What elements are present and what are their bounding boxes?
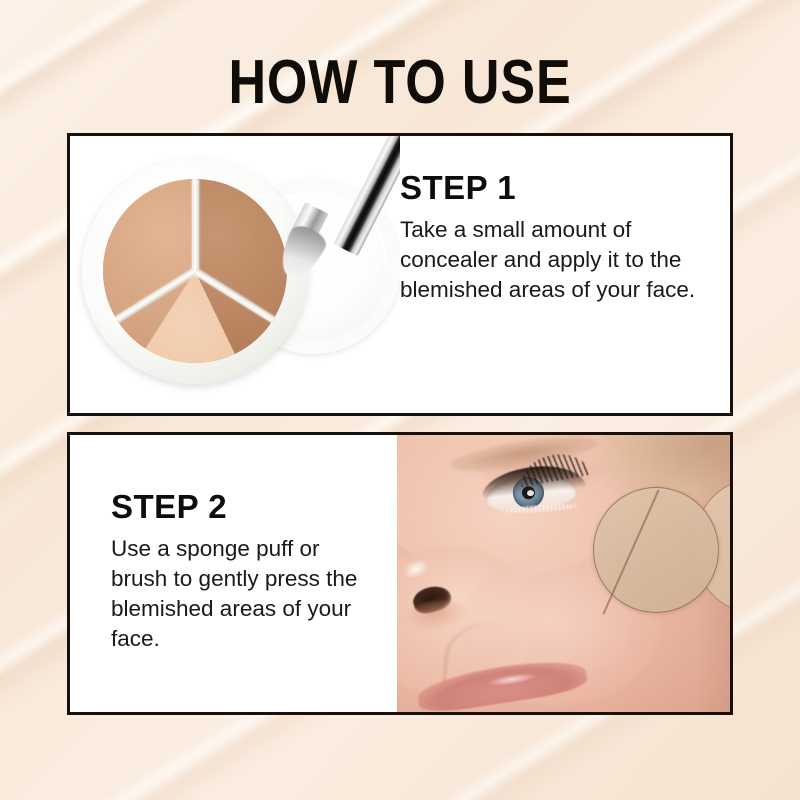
page-title: HOW TO USE: [64, 52, 736, 114]
palette-pan: [103, 179, 287, 363]
concealer-palette-illustration: [70, 136, 400, 413]
eye: [485, 467, 589, 517]
sponge-puff: [593, 487, 719, 613]
face-closeup-illustration: [397, 435, 730, 712]
step-2-card: STEP 2 Use a sponge puff or brush to gen…: [67, 432, 733, 715]
step-1-body: Take a small amount of concealer and app…: [400, 215, 716, 305]
sponge-puff-seam: [602, 490, 659, 615]
step-1-text-panel: STEP 1 Take a small amount of concealer …: [400, 136, 730, 413]
step-2-body: Use a sponge puff or brush to gently pre…: [111, 534, 379, 654]
step-2-heading: STEP 2: [111, 489, 379, 525]
step-2-text-panel: STEP 2 Use a sponge puff or brush to gen…: [70, 435, 397, 712]
step-1-heading: STEP 1: [400, 170, 716, 206]
how-to-use-infographic: HOW TO USE: [0, 0, 800, 800]
step-1-card: STEP 1 Take a small amount of concealer …: [67, 133, 733, 416]
palette-case: [82, 158, 308, 384]
step-2-image: [397, 435, 730, 712]
pan-divider-top: [192, 179, 199, 271]
brush-handle: [333, 136, 400, 256]
step-1-image: [70, 136, 400, 413]
applicator-brush: [286, 136, 400, 316]
